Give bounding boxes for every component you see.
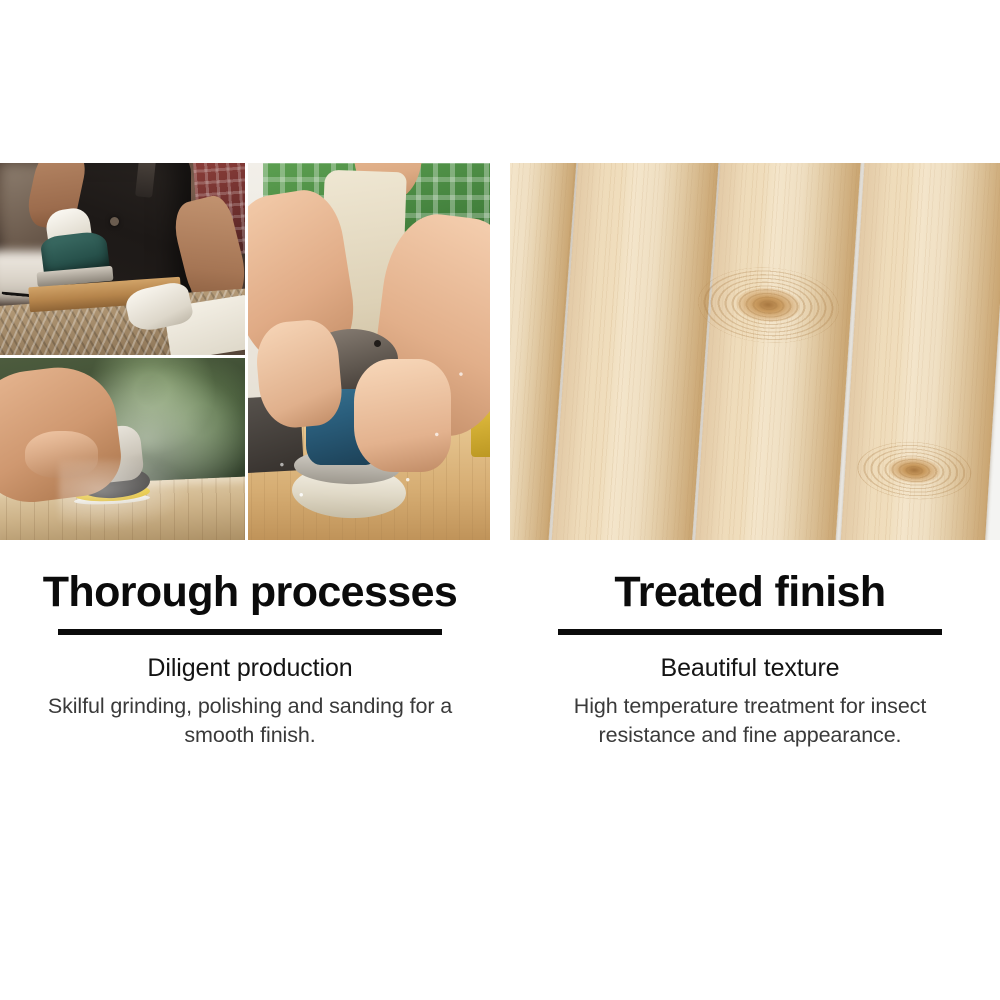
feature-column-thorough-processes: Thorough processes Diligent production S… — [0, 560, 500, 780]
subhead-beautiful-texture: Beautiful texture — [500, 654, 1000, 683]
photo-treated-pine-slats-closeup — [510, 163, 1000, 540]
body-treated-finish: High temperature treatment for insect re… — [540, 692, 960, 749]
photo-angle-grinder-polishing-plank — [0, 358, 245, 540]
headline-divider-right — [558, 629, 942, 635]
photo-collage-left — [0, 163, 490, 540]
photo-man-plaid-shirt-random-orbit-sander — [248, 163, 490, 540]
photo-craftsman-orbital-sanding-board — [0, 163, 245, 355]
body-thorough-processes: Skilful grinding, polishing and sanding … — [40, 692, 460, 749]
feature-column-treated-finish: Treated finish Beautiful texture High te… — [500, 560, 1000, 780]
subhead-diligent-production: Diligent production — [0, 654, 500, 683]
product-feature-poster: Thorough processes Diligent production S… — [0, 0, 1000, 1000]
feature-text-row: Thorough processes Diligent production S… — [0, 560, 1000, 780]
headline-thorough-processes: Thorough processes — [0, 560, 500, 614]
media-band — [0, 163, 1000, 540]
headline-treated-finish: Treated finish — [500, 560, 1000, 614]
headline-divider-left — [58, 629, 442, 635]
